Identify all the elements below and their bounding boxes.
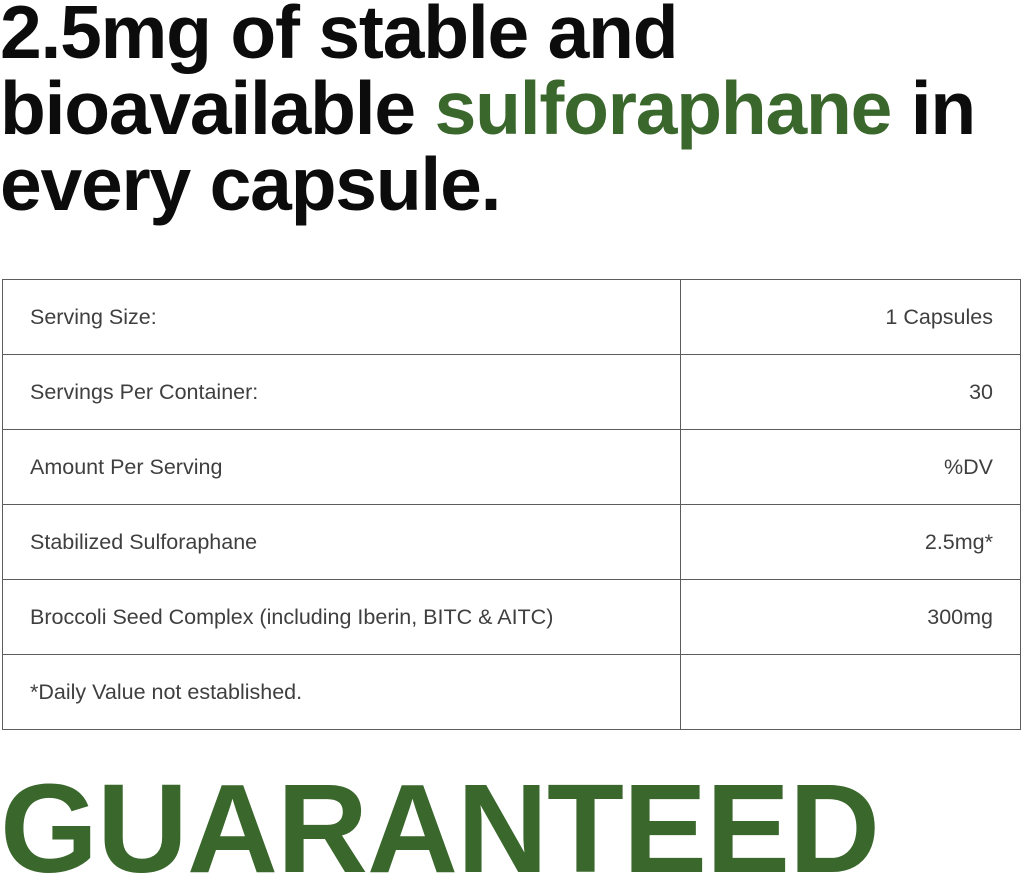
- row-value-stabilized-sulforaphane: 2.5mg*: [681, 505, 1021, 580]
- table-row: *Daily Value not established.: [3, 655, 1021, 730]
- row-label-broccoli-seed-complex: Broccoli Seed Complex (including Iberin,…: [3, 580, 681, 655]
- row-value-serving-size: 1 Capsules: [681, 280, 1021, 355]
- row-value-amount-per-serving: %DV: [681, 430, 1021, 505]
- table-row: Amount Per Serving %DV: [3, 430, 1021, 505]
- row-label-servings-per-container: Servings Per Container:: [3, 355, 681, 430]
- row-value-broccoli-seed-complex: 300mg: [681, 580, 1021, 655]
- row-label-serving-size: Serving Size:: [3, 280, 681, 355]
- row-label-amount-per-serving: Amount Per Serving: [3, 430, 681, 505]
- supplement-facts-page: 2.5mg of stable and bioavailable sulfora…: [0, 0, 1024, 881]
- supplement-facts-body: Serving Size: 1 Capsules Servings Per Co…: [3, 280, 1021, 730]
- table-row: Serving Size: 1 Capsules: [3, 280, 1021, 355]
- headline-accent-word: sulforaphane: [435, 66, 892, 150]
- row-label-daily-value-footnote: *Daily Value not established.: [3, 655, 681, 730]
- supplement-facts-table: Serving Size: 1 Capsules Servings Per Co…: [2, 279, 1021, 730]
- row-value-daily-value-footnote: [681, 655, 1021, 730]
- guaranteed-banner: GUARANTEED: [0, 766, 1024, 892]
- page-headline: 2.5mg of stable and bioavailable sulfora…: [0, 0, 1024, 222]
- row-value-servings-per-container: 30: [681, 355, 1021, 430]
- table-row: Servings Per Container: 30: [3, 355, 1021, 430]
- table-row: Broccoli Seed Complex (including Iberin,…: [3, 580, 1021, 655]
- table-row: Stabilized Sulforaphane 2.5mg*: [3, 505, 1021, 580]
- row-label-stabilized-sulforaphane: Stabilized Sulforaphane: [3, 505, 681, 580]
